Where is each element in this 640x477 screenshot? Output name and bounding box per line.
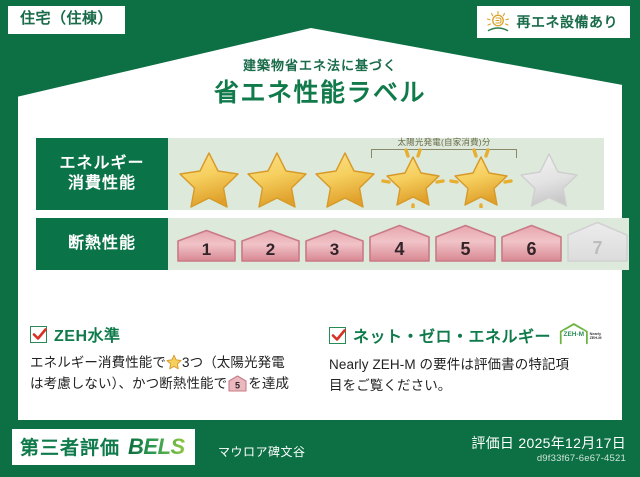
svg-text:7: 7 <box>592 238 602 258</box>
svg-text:1: 1 <box>202 240 211 259</box>
svg-text:5: 5 <box>235 380 240 390</box>
star-2-filled <box>244 148 310 208</box>
insulation-level-4: 4 <box>368 224 431 268</box>
zeh-checkbox <box>30 326 47 343</box>
evaluation-id: d9f33f67-6e67-4521 <box>537 453 626 464</box>
star-5-filled-solar <box>448 148 514 208</box>
nze-description: Nearly ZEH-M の要件は評価書の特記項 目をご覧ください。 <box>329 355 614 397</box>
star-rating <box>176 148 582 208</box>
svg-text:Nearly: Nearly <box>590 332 602 336</box>
energy-performance-label: エネルギー 消費性能 <box>36 138 168 210</box>
insulation-label-text: 断熱性能 <box>68 234 136 254</box>
svg-text:5: 5 <box>460 239 470 259</box>
solar-sun-icon <box>485 10 511 34</box>
net-zero-energy-section: ネット・ゼロ・エネルギー ZEH-M Nearly ZEH-M Nearly Z… <box>329 322 614 397</box>
zeh-standard-section: ZEH水準 エネルギー消費性能で3つ（太陽光発電 は考慮しない）、かつ断熱性能で… <box>30 322 315 397</box>
svg-text:ZEH-M: ZEH-M <box>564 331 585 338</box>
criteria-columns: ZEH水準 エネルギー消費性能で3つ（太陽光発電 は考慮しない）、かつ断熱性能で… <box>30 322 614 397</box>
bels-jp-label: 第三者評価 <box>20 433 120 460</box>
nze-heading-label: ネット・ゼロ・エネルギー <box>353 323 551 347</box>
inline-house-badge-icon: 5 <box>228 375 247 392</box>
nze-desc-line2: 目をご覧ください。 <box>329 378 451 393</box>
renewable-energy-badge: 再エネ設備あり <box>477 6 631 38</box>
star-1-filled <box>176 148 242 208</box>
zeh-desc-part4: を達成 <box>248 376 289 391</box>
svg-text:6: 6 <box>526 239 536 259</box>
insulation-performance-label: 断熱性能 <box>36 218 168 270</box>
zeh-desc-part3: は考慮しない）、かつ断熱性能で <box>30 376 227 391</box>
energy-performance-row: エネルギー 消費性能 太陽光発電(自家消費)分 <box>36 138 604 210</box>
insulation-level-5: 5 <box>434 224 497 268</box>
star-3-filled <box>312 148 378 208</box>
svg-text:4: 4 <box>394 239 404 259</box>
nze-heading-row: ネット・ゼロ・エネルギー ZEH-M Nearly ZEH-M <box>329 322 614 348</box>
star-4-filled-solar <box>380 148 446 208</box>
footer-bar: 第三者評価 BELS マウロア碑文谷 評価日 2025年12月17日 d9f33… <box>0 421 640 477</box>
solar-annotation-label: 太陽光発電(自家消費)分 <box>364 136 524 148</box>
energy-label-line2: 消費性能 <box>68 174 136 194</box>
check-icon <box>32 327 47 342</box>
rating-rows: エネルギー 消費性能 太陽光発電(自家消費)分 <box>36 138 604 270</box>
title-main: 省エネ性能ラベル <box>0 77 640 110</box>
zeh-heading-row: ZEH水準 <box>30 322 315 346</box>
energy-label-root: 住宅（住棟） 再エネ設備あり 建築物省 <box>0 0 640 477</box>
svg-text:3: 3 <box>330 240 339 259</box>
zeh-heading-label: ZEH水準 <box>54 322 121 346</box>
nze-desc-line1: Nearly ZEH-M の要件は評価書の特記項 <box>329 357 569 372</box>
insulation-level-1: 1 <box>176 229 237 268</box>
svg-text:ZEH-M: ZEH-M <box>590 336 602 340</box>
insulation-level-3: 3 <box>304 229 365 268</box>
insulation-level-2: 2 <box>240 229 301 268</box>
title-subtitle: 建築物省エネ法に基づく <box>0 58 640 74</box>
zeh-desc-part2: 3つ（太陽光発電 <box>182 355 285 370</box>
insulation-level-badges: 1 2 3 <box>168 218 629 270</box>
energy-label-line1: エネルギー <box>59 154 144 174</box>
svg-text:2: 2 <box>266 240 275 259</box>
bels-en-label: BELS <box>128 434 185 460</box>
building-name: マウロア碑文谷 <box>218 443 306 460</box>
evaluation-date: 評価日 2025年12月17日 <box>471 433 626 453</box>
insulation-house-row: 1 2 3 <box>176 221 629 268</box>
zeh-m-logo-icon: ZEH-M Nearly ZEH-M <box>558 322 602 348</box>
inline-star-icon <box>166 354 182 370</box>
page-title: 建築物省エネ法に基づく 省エネ性能ラベル <box>0 58 640 109</box>
energy-performance-stars: 太陽光発電(自家消費)分 <box>168 138 604 210</box>
building-type-badge: 住宅（住棟） <box>8 6 125 34</box>
zeh-description: エネルギー消費性能で3つ（太陽光発電 は考慮しない）、かつ断熱性能で5を達成 <box>30 353 315 395</box>
nze-checkbox <box>329 327 346 344</box>
check-icon <box>331 328 346 343</box>
insulation-level-6: 6 <box>500 224 563 268</box>
star-6-empty <box>516 148 582 208</box>
building-type-label: 住宅（住棟） <box>20 10 113 27</box>
renewable-energy-label: 再エネ設備あり <box>517 12 619 32</box>
insulation-performance-row: 断熱性能 1 <box>36 218 604 270</box>
bels-badge: 第三者評価 BELS <box>12 429 195 465</box>
insulation-level-7: 7 <box>566 221 629 268</box>
zeh-desc-part1: エネルギー消費性能で <box>30 355 166 370</box>
